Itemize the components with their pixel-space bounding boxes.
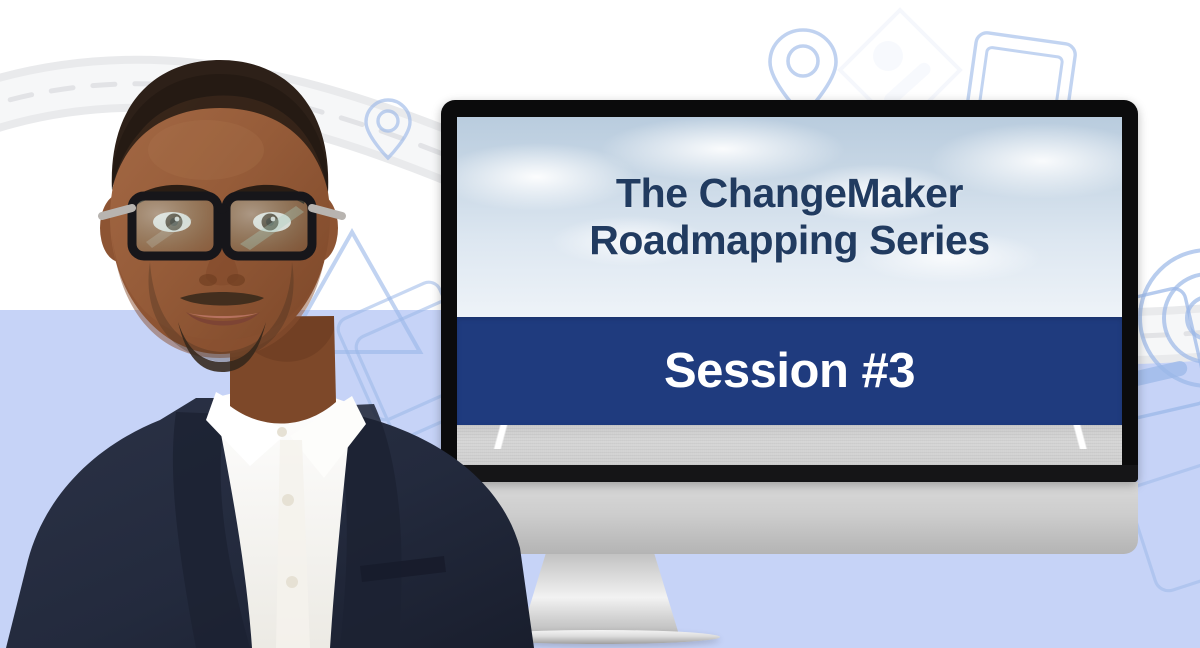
monitor-screen: The ChangeMaker Roadmapping Series Sessi… <box>457 117 1122 465</box>
session-label: Session #3 <box>664 343 915 399</box>
slide-title-block: The ChangeMaker Roadmapping Series <box>457 117 1122 317</box>
monitor-stand <box>520 554 680 638</box>
slide-title-line-1: The ChangeMaker <box>616 170 963 217</box>
slide-canvas: The ChangeMaker Roadmapping Series Sessi… <box>0 0 1200 648</box>
monitor-lower-bezel <box>441 465 1138 482</box>
presenter-portrait <box>0 0 540 648</box>
road-graphic <box>457 425 1122 465</box>
session-banner: Session #3 <box>457 317 1122 425</box>
monitor-body <box>441 482 1138 554</box>
computer-monitor: The ChangeMaker Roadmapping Series Sessi… <box>441 100 1138 482</box>
road-lane-line-right <box>1040 425 1118 449</box>
road-texture <box>457 425 1122 465</box>
slide-title-line-2: Roadmapping Series <box>589 217 990 264</box>
eyeglasses-icon <box>102 196 342 256</box>
